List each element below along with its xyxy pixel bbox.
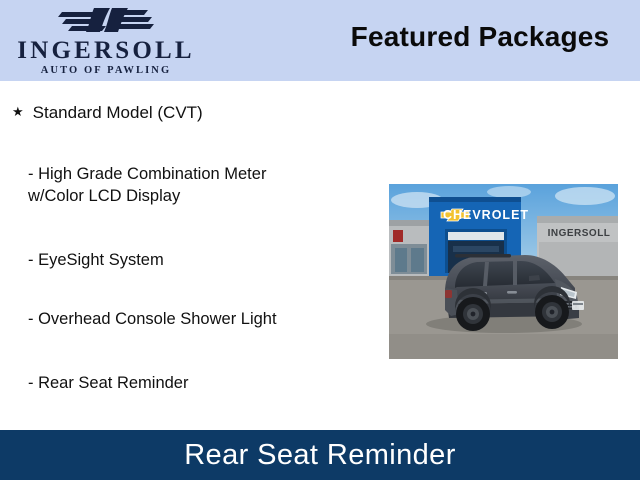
brand-name: INGERSOLL — [8, 37, 204, 64]
svg-text:CHEVROLET: CHEVROLET — [443, 208, 529, 222]
list-item: - Overhead Console Shower Light — [28, 308, 277, 330]
feature-heading-label: Standard Model (CVT) — [33, 103, 203, 122]
brand-tagline: AUTO OF PAWLING — [8, 65, 204, 76]
svg-text:INGERSOLL: INGERSOLL — [548, 228, 611, 239]
page-title: Featured Packages — [330, 21, 630, 53]
list-item: - Rear Seat Reminder — [28, 372, 188, 394]
content-area: ★Standard Model (CVT) - High Grade Combi… — [0, 81, 640, 430]
vehicle-photo: INGERSOLL CHEVROLET — [389, 184, 618, 359]
footer-caption: Rear Seat Reminder — [184, 439, 456, 472]
brand-logo: INGERSOLL AUTO OF PAWLING — [8, 4, 204, 78]
list-item: - High Grade Combination Meter w/Color L… — [28, 163, 266, 207]
list-item: - EyeSight System — [28, 249, 164, 271]
feature-heading: ★Standard Model (CVT) — [12, 103, 203, 123]
footer-banner: Rear Seat Reminder — [0, 430, 640, 480]
winged-speed-emblem-icon — [56, 6, 156, 38]
header-band: INGERSOLL AUTO OF PAWLING Featured Packa… — [0, 0, 640, 81]
star-bullet-icon: ★ — [12, 104, 24, 120]
